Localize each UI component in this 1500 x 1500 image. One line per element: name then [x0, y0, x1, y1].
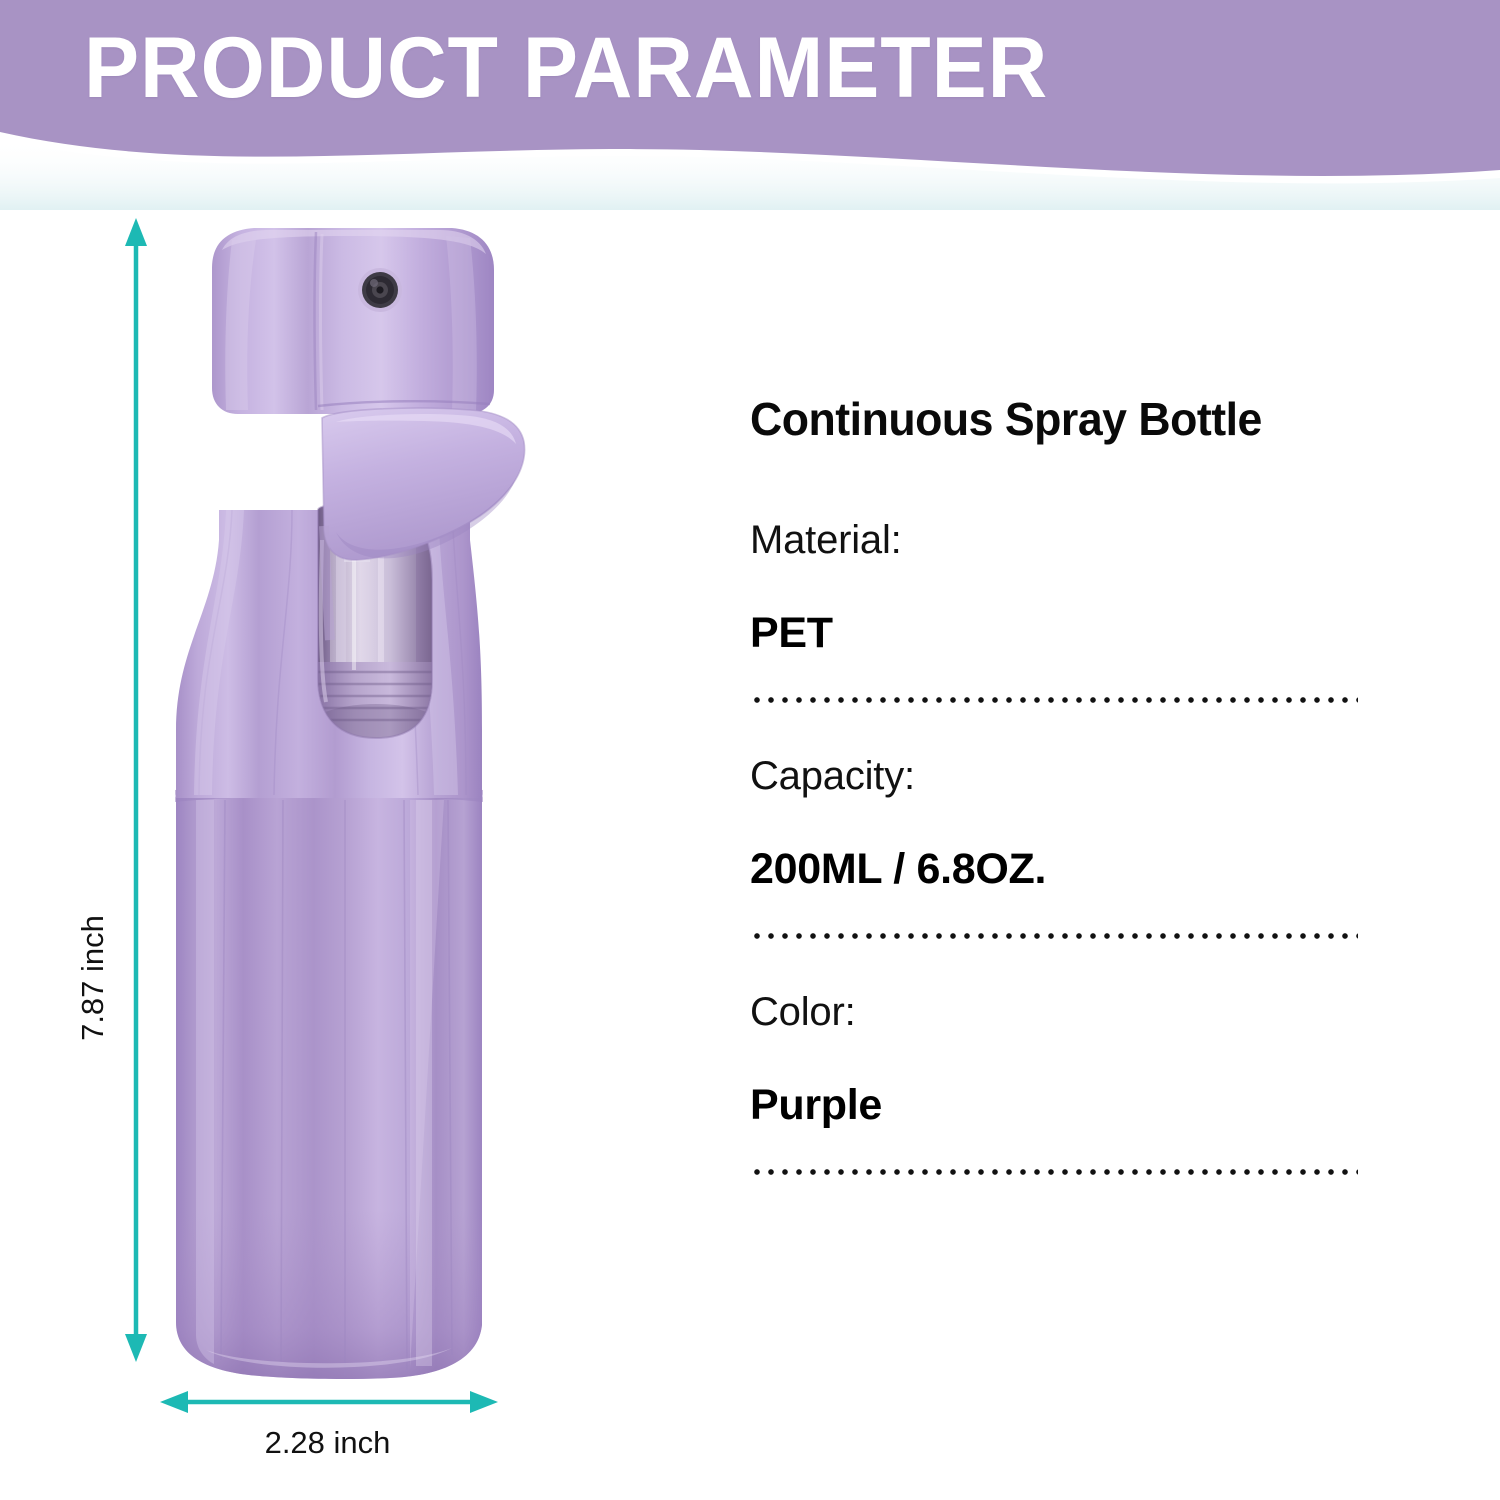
width-dimension-arrow [160, 1391, 498, 1413]
spec-label-capacity: Capacity: [750, 752, 1370, 800]
spec-panel: Continuous Spray Bottle Material: PET Ca… [750, 392, 1370, 1224]
spec-label-material: Material: [750, 516, 1370, 564]
spec-value-material: PET [750, 608, 1370, 658]
width-dimension-label: 2.28 inch [160, 1425, 495, 1461]
height-dimension-label: 7.87 inch [75, 878, 111, 1078]
spec-value-capacity: 200ML / 6.8OZ. [750, 844, 1370, 894]
spray-bottle-illustration [0, 210, 740, 1500]
page-title: PRODUCT PARAMETER [84, 22, 1048, 114]
spec-divider [750, 1168, 1358, 1176]
spec-label-color: Color: [750, 988, 1370, 1036]
spec-row-color: Color: Purple [750, 988, 1370, 1176]
spec-row-capacity: Capacity: 200ML / 6.8OZ. [750, 752, 1370, 940]
bottle-body [176, 795, 482, 1379]
product-parameter-page: PRODUCT PARAMETER [0, 0, 1500, 1500]
spec-row-material: Material: PET [750, 516, 1370, 704]
sprayer-head [212, 228, 494, 414]
product-title: Continuous Spray Bottle [750, 392, 1351, 446]
nozzle-icon [358, 268, 402, 312]
product-figure: 7.87 inch 2.28 inch [0, 210, 740, 1500]
spec-divider [750, 696, 1358, 704]
spec-divider [750, 932, 1358, 940]
spec-value-color: Purple [750, 1080, 1370, 1130]
header-banner: PRODUCT PARAMETER [0, 0, 1500, 210]
height-dimension-arrow [125, 218, 147, 1362]
